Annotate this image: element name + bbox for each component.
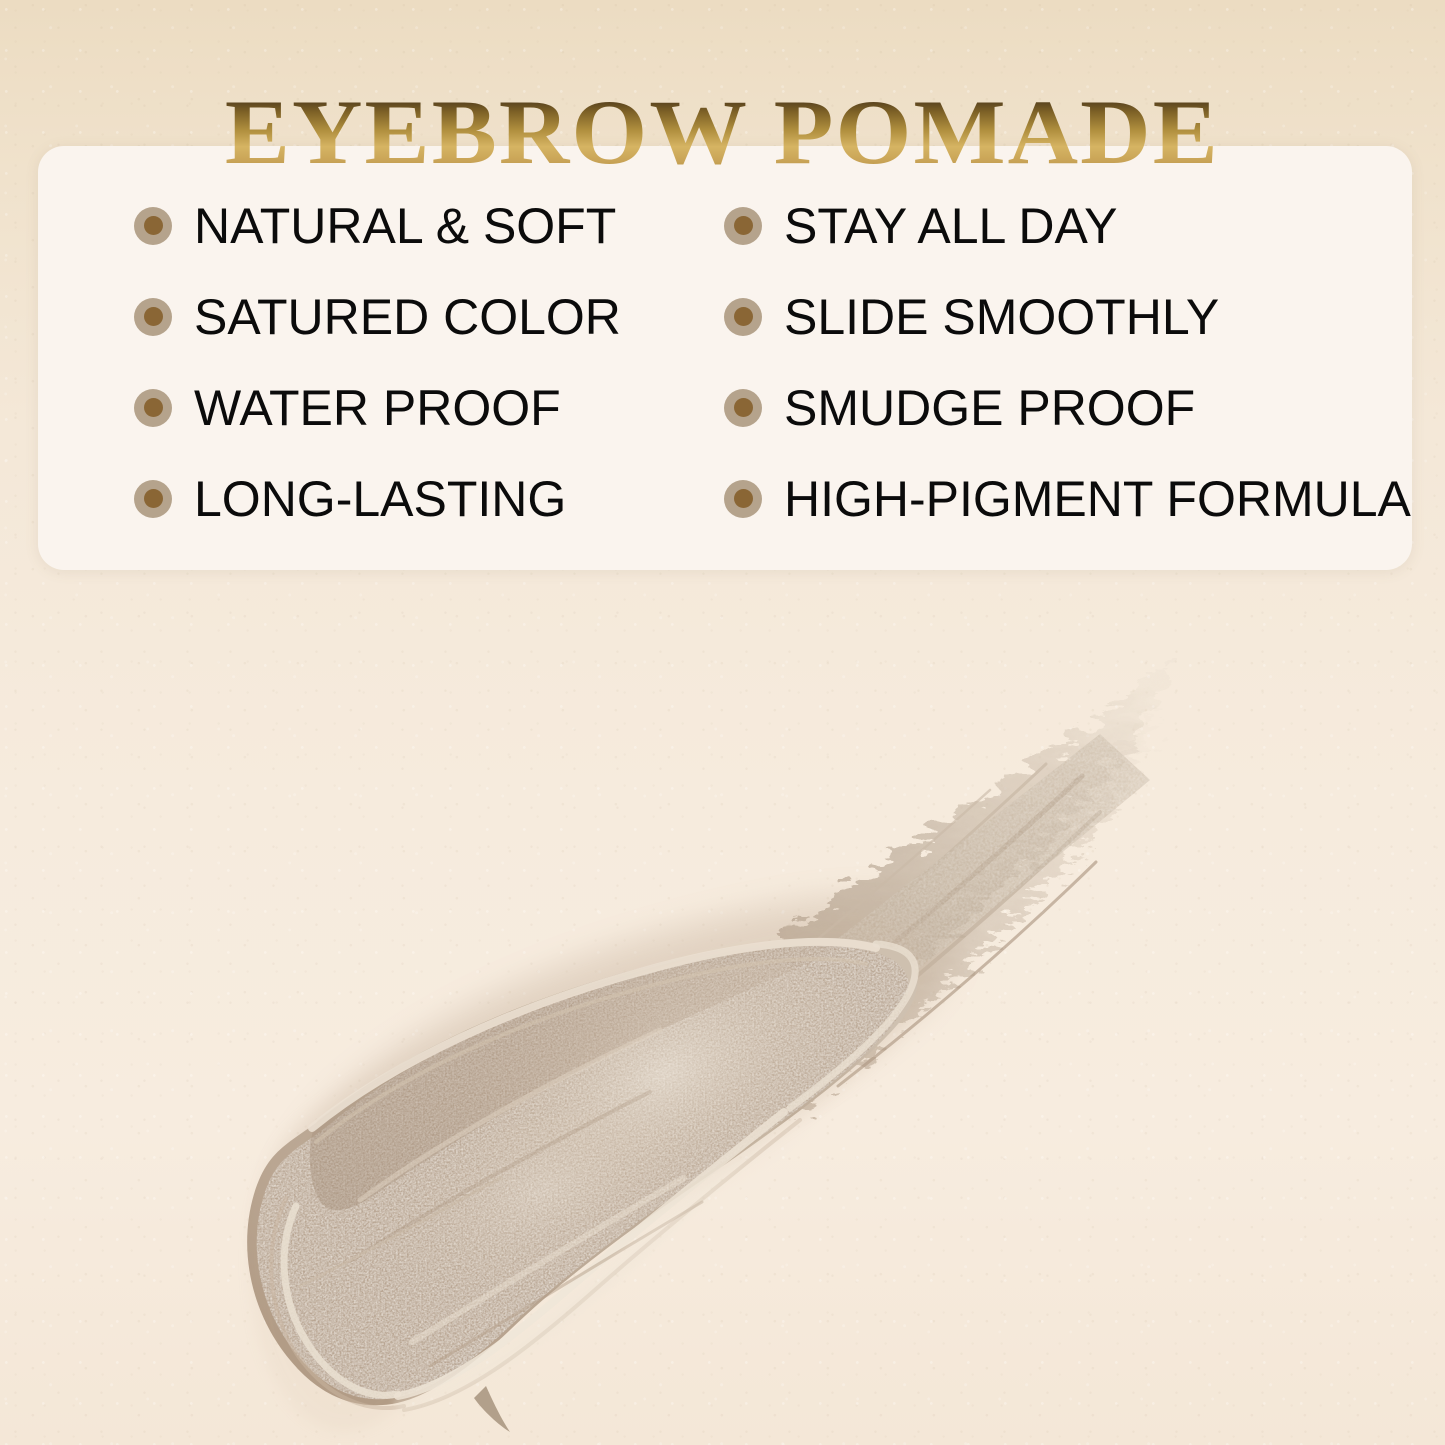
bullet-dot-icon <box>134 298 172 336</box>
bullet-dot-icon <box>724 389 762 427</box>
feature-item-satured-color: SATURED COLOR <box>134 292 724 342</box>
feature-label: LONG-LASTING <box>194 474 566 524</box>
feature-label: SLIDE SMOOTHLY <box>784 292 1219 342</box>
feature-item-smudge-proof: SMUDGE PROOF <box>724 383 1412 433</box>
feature-label: HIGH-PIGMENT FORMULA <box>784 474 1411 524</box>
feature-item-slide-smoothly: SLIDE SMOOTHLY <box>724 292 1412 342</box>
bullet-dot-icon <box>724 480 762 518</box>
feature-item-long-lasting: LONG-LASTING <box>134 474 724 524</box>
feature-label: SMUDGE PROOF <box>784 383 1195 433</box>
pomade-smear-swatch <box>0 600 1445 1445</box>
product-poster: EYEBROW POMADE NATURAL & SOFT STAY ALL D… <box>0 0 1445 1445</box>
feature-label: SATURED COLOR <box>194 292 621 342</box>
feature-item-high-pigment-formula: HIGH-PIGMENT FORMULA <box>724 474 1412 524</box>
feature-label: WATER PROOF <box>194 383 561 433</box>
feature-item-water-proof: WATER PROOF <box>134 383 724 433</box>
bullet-dot-icon <box>724 298 762 336</box>
page-title: EYEBROW POMADE <box>225 86 1220 178</box>
bullet-dot-icon <box>134 480 172 518</box>
bullet-dot-icon <box>134 389 172 427</box>
page-title-container: EYEBROW POMADE <box>0 24 1445 239</box>
